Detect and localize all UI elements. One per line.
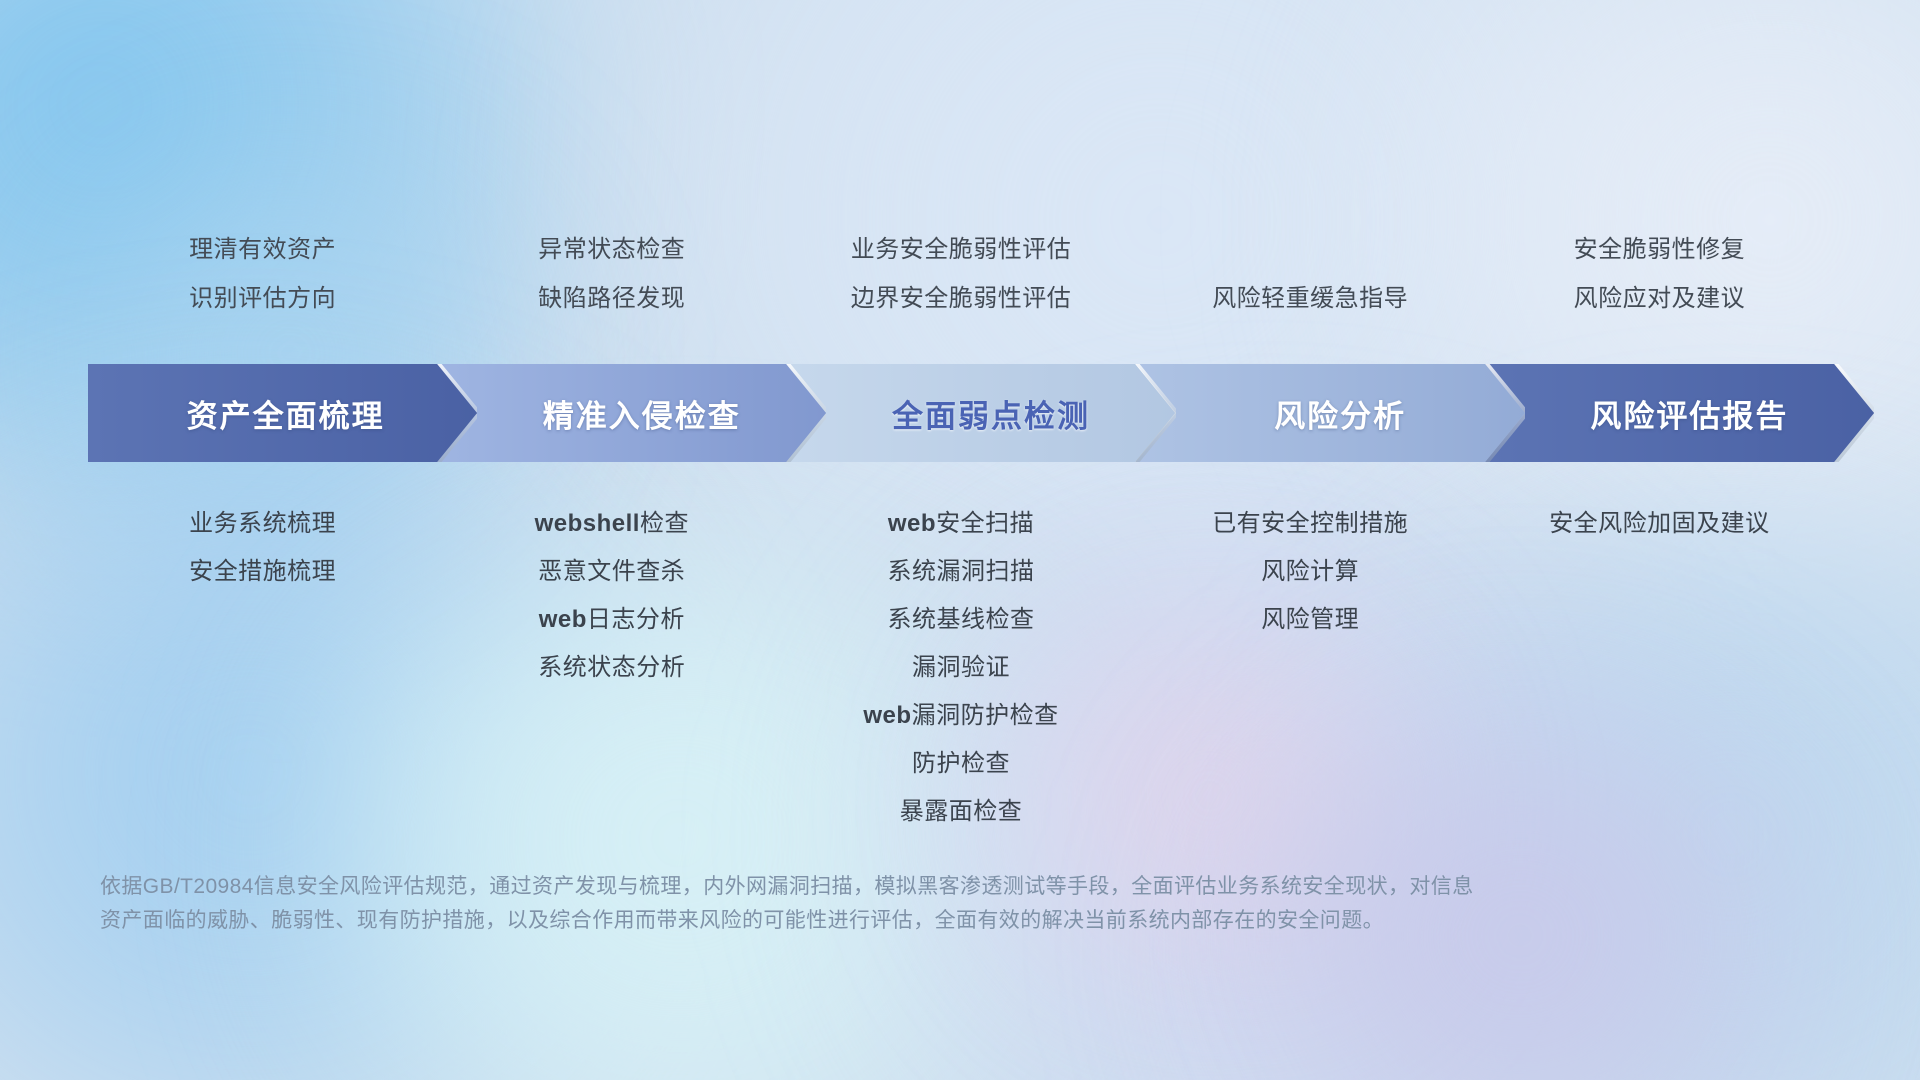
process-stage-4[interactable]: 风险分析 (1136, 364, 1525, 462)
bottom-item: 系统基线检查 (786, 596, 1135, 644)
bottom-item: 系统漏洞扫描 (786, 548, 1135, 596)
bottom-item: 暴露面检查 (786, 788, 1135, 836)
process-stage-1[interactable]: 资产全面梳理 (88, 364, 477, 462)
stage-label-2: 精准入侵检查 (543, 391, 741, 436)
footer-description: 依据GB/T20984信息安全风险评估规范，通过资产发现与梳理，内外网漏洞扫描，… (100, 870, 1640, 938)
bottom-item: web安全扫描 (786, 500, 1135, 548)
bottom-item-keyword: webshell (535, 510, 640, 537)
bottom-item-keyword: web (539, 606, 587, 633)
footer-line-1: 依据GB/T20984信息安全风险评估规范，通过资产发现与梳理，内外网漏洞扫描，… (100, 870, 1640, 904)
process-stage-3[interactable]: 全面弱点检测 (786, 364, 1175, 462)
process-stage-5[interactable]: 风险评估报告 (1485, 364, 1874, 462)
bottom-items-col-2: webshell检查恶意文件查杀web日志分析系统状态分析 (437, 500, 786, 692)
stage-label-3: 全面弱点检测 (892, 391, 1090, 436)
process-stage-2[interactable]: 精准入侵检查 (437, 364, 826, 462)
stage-label-5: 风险评估报告 (1590, 391, 1788, 436)
bottom-item: 防护检查 (786, 740, 1135, 788)
slide-canvas: 理清有效资产识别评估方向异常状态检查缺陷路径发现业务安全脆弱性评估边界安全脆弱性… (0, 0, 1920, 1080)
bottom-item: 安全风险加固及建议 (1485, 500, 1834, 548)
footer-line-2: 资产面临的威胁、脆弱性、现有防护措施，以及综合作用而带来风险的可能性进行评估，全… (100, 904, 1640, 938)
top-note-line: 理清有效资产 (88, 225, 437, 274)
bottom-item: 业务系统梳理 (88, 500, 437, 548)
top-note-line: 边界安全脆弱性评估 (786, 274, 1135, 323)
bottom-item: 风险计算 (1136, 548, 1485, 596)
top-note-line: 识别评估方向 (88, 274, 437, 323)
top-notes-col-1: 理清有效资产识别评估方向 (88, 225, 437, 323)
bottom-item: 风险管理 (1136, 596, 1485, 644)
bottom-items-col-5: 安全风险加固及建议 (1485, 500, 1834, 548)
top-note-spacer (1136, 225, 1485, 274)
stage-label-4: 风险分析 (1274, 391, 1406, 436)
top-notes-col-2: 异常状态检查缺陷路径发现 (437, 225, 786, 323)
top-note-line: 业务安全脆弱性评估 (786, 225, 1135, 274)
bottom-item: web日志分析 (437, 596, 786, 644)
top-note-line: 安全脆弱性修复 (1485, 225, 1834, 274)
bottom-items-col-1: 业务系统梳理安全措施梳理 (88, 500, 437, 596)
bottom-item: webshell检查 (437, 500, 786, 548)
bottom-item: 安全措施梳理 (88, 548, 437, 596)
top-note-line: 风险轻重缓急指导 (1136, 274, 1485, 323)
bottom-item: 已有安全控制措施 (1136, 500, 1485, 548)
bottom-item-keyword: web (888, 510, 936, 537)
bottom-item-keyword: web (863, 702, 911, 729)
bottom-item: 恶意文件查杀 (437, 548, 786, 596)
bottom-item: 漏洞验证 (786, 644, 1135, 692)
top-note-line: 异常状态检查 (437, 225, 786, 274)
stage-label-1: 资产全面梳理 (187, 391, 385, 436)
top-note-line: 风险应对及建议 (1485, 274, 1834, 323)
top-notes-col-5: 安全脆弱性修复风险应对及建议 (1485, 225, 1834, 323)
top-notes-col-4: 风险轻重缓急指导 (1136, 225, 1485, 323)
bottom-item: 系统状态分析 (437, 644, 786, 692)
bottom-items-col-3: web安全扫描系统漏洞扫描系统基线检查漏洞验证web漏洞防护检查防护检查暴露面检… (786, 500, 1135, 836)
top-note-line: 缺陷路径发现 (437, 274, 786, 323)
bottom-items-col-4: 已有安全控制措施风险计算风险管理 (1136, 500, 1485, 644)
top-notes-col-3: 业务安全脆弱性评估边界安全脆弱性评估 (786, 225, 1135, 323)
process-arrow-ribbon: 资产全面梳理精准入侵检查全面弱点检测风险分析风险评估报告 (88, 364, 1834, 462)
bottom-item: web漏洞防护检查 (786, 692, 1135, 740)
